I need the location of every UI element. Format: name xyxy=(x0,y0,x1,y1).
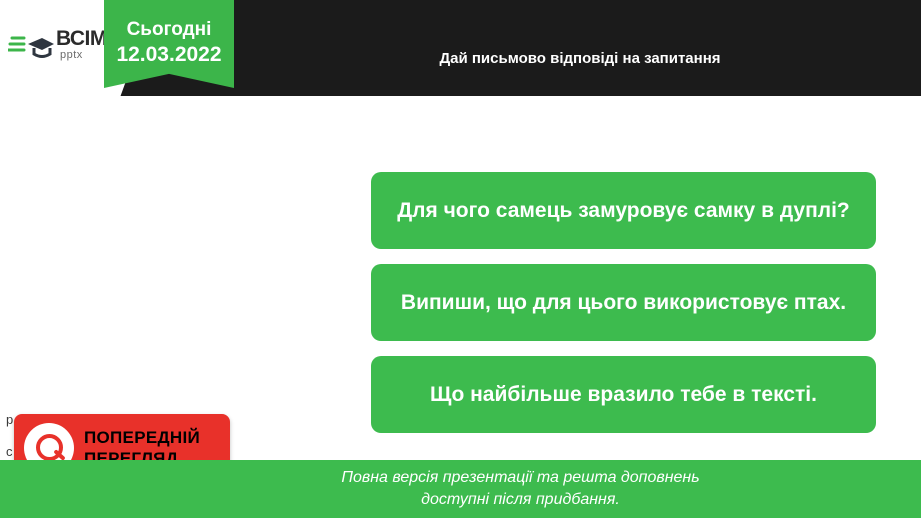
graduation-cap-icon xyxy=(8,32,54,64)
question-box-3: Що найбільше вразило тебе в тексті. xyxy=(371,356,876,433)
date-badge-today-label: Сьогодні xyxy=(104,18,234,42)
brand-name: ВСІМ xyxy=(56,28,107,50)
left-text-fragment-1: р xyxy=(6,412,13,427)
date-badge: Сьогодні 12.03.2022 xyxy=(104,0,234,88)
footer-bar: Повна версія презентації та решта доповн… xyxy=(0,460,921,518)
preview-badge-line1: ПОПЕРЕДНІЙ xyxy=(84,427,200,448)
footer-line2: доступні після придбання. xyxy=(201,489,841,511)
slide-root: https://vsimpptx.comhttps://vsimpptx.com… xyxy=(0,0,921,518)
brand-logo[interactable]: ВСІМ pptx xyxy=(8,26,108,72)
date-badge-date: 12.03.2022 xyxy=(104,42,234,68)
header-bar: ВСІМ pptx Сьогодні 12.03.2022 Дай письмо… xyxy=(0,0,921,96)
footer-line1: Повна версія презентації та решта доповн… xyxy=(201,467,841,489)
brand-subtitle: pptx xyxy=(60,49,83,61)
question-box-2: Випиши, що для цього використовує птах. xyxy=(371,264,876,341)
footer-text: Повна версія презентації та решта доповн… xyxy=(201,467,841,511)
page-title: Дай письмово відповіді на запитання xyxy=(250,50,910,67)
question-box-1: Для чого самець замуровує самку в дуплі? xyxy=(371,172,876,249)
left-text-fragment-2: с xyxy=(6,444,13,459)
